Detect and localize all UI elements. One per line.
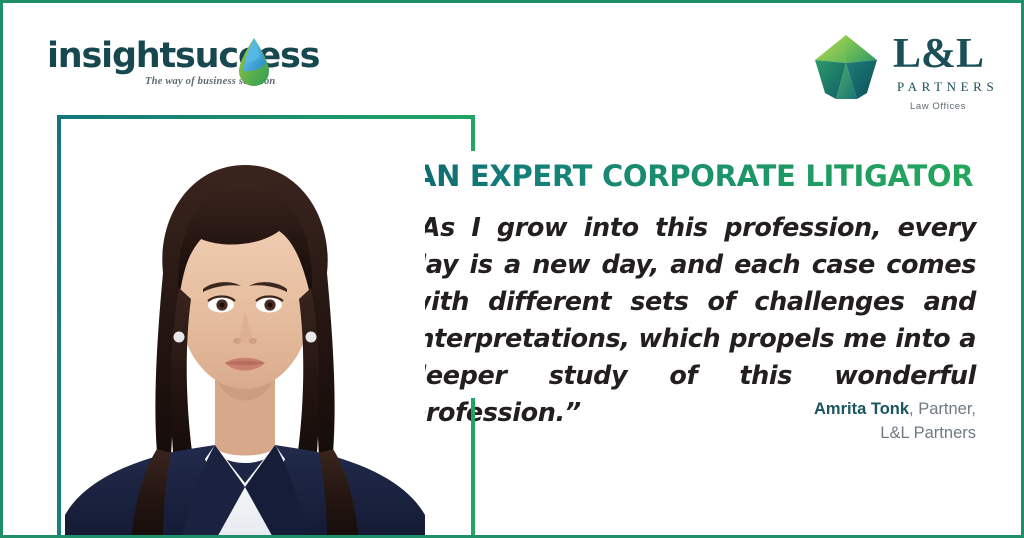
insight-success-wordmark: insightsuccess <box>47 36 319 76</box>
attribution-organization: L&L Partners <box>563 421 976 445</box>
ll-subtitle: PARTNERS <box>893 79 983 95</box>
frame-left-segment <box>57 115 61 538</box>
water-drop-icon <box>233 36 273 88</box>
headline: AN EXPERT CORPORATE LITIGATOR <box>414 159 973 193</box>
attribution-name: Amrita Tonk <box>814 400 909 418</box>
faceted-pentagon-gem-icon <box>811 33 881 101</box>
portrait-photo <box>65 123 425 538</box>
portrait-illustration <box>65 123 425 538</box>
ll-partners-text: L&L PARTNERS Law Offices <box>893 31 983 112</box>
insight-success-logo: insightsuccess The way of business solut… <box>47 36 279 94</box>
frame-top-segment <box>57 115 475 119</box>
promo-card: insightsuccess The way of business solut… <box>0 0 1024 538</box>
ll-partners-logo: L&L PARTNERS Law Offices <box>811 31 983 127</box>
attribution-role: , Partner, <box>909 400 976 418</box>
ll-name: L&L <box>893 31 983 77</box>
attribution: Amrita Tonk, Partner, L&L Partners <box>563 397 976 445</box>
wordmark-main: insight <box>47 36 175 76</box>
frame-right-top-segment <box>471 115 475 151</box>
ll-descriptor: Law Offices <box>893 101 983 112</box>
